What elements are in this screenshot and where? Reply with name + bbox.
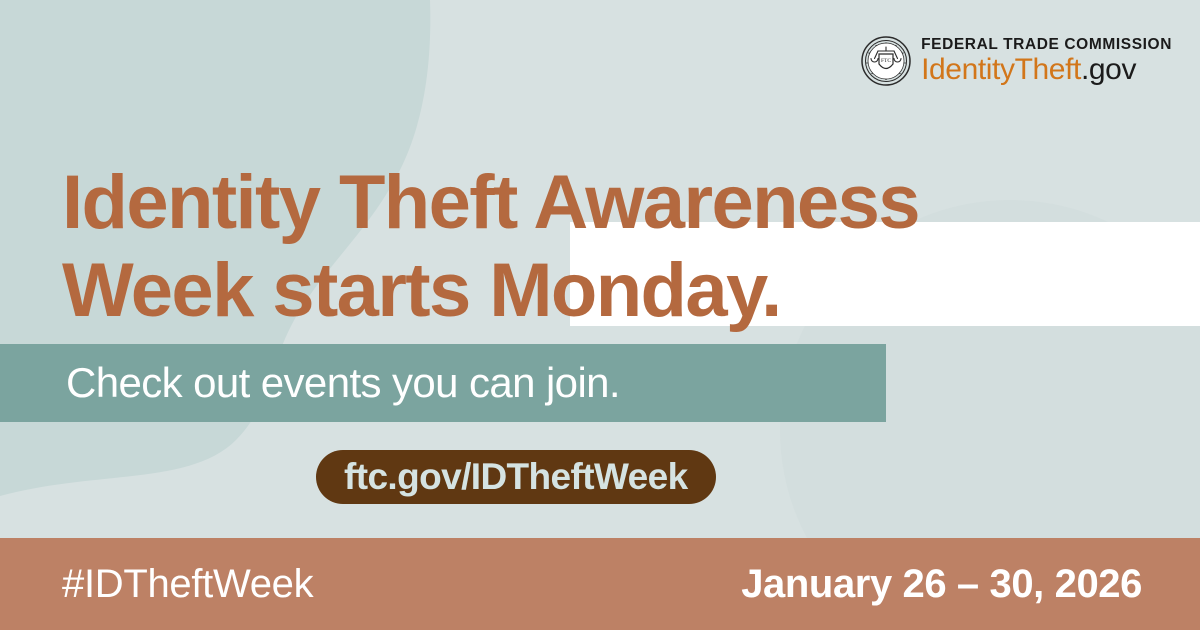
site-name-brand: IdentityTheft (921, 53, 1081, 86)
site-name: IdentityTheft.gov (921, 55, 1172, 85)
url-cta-pill[interactable]: ftc.gov/IDTheftWeek (316, 450, 716, 504)
headline-line-1: Identity Theft Awareness (62, 163, 1182, 244)
agency-name: FEDERAL TRADE COMMISSION (921, 37, 1172, 53)
identitytheft-gov-logo: FTC FEDERAL TRADE COMMISSION IdentityThe… (861, 36, 1172, 86)
event-dates: January 26 – 30, 2026 (741, 562, 1200, 607)
svg-text:FTC: FTC (881, 58, 891, 64)
site-name-tld: .gov (1081, 53, 1136, 86)
url-cta-label: ftc.gov/IDTheftWeek (344, 456, 688, 498)
subtitle-band: Check out events you can join. (0, 344, 886, 422)
headline-line-2-plain: Week starts (62, 248, 489, 333)
footer-band: #IDTheftWeek January 26 – 30, 2026 (0, 538, 1200, 630)
logo-text-block: FEDERAL TRADE COMMISSION IdentityTheft.g… (921, 37, 1172, 86)
identity-theft-awareness-week-banner: FTC FEDERAL TRADE COMMISSION IdentityThe… (0, 0, 1200, 630)
campaign-hashtag: #IDTheftWeek (0, 562, 313, 607)
headline-line-2: Week starts Monday. (62, 251, 1182, 332)
subtitle-text: Check out events you can join. (0, 359, 620, 407)
headline-line-2-highlight: Monday. (489, 248, 780, 333)
page-title: Identity Theft Awareness Week starts Mon… (62, 163, 1182, 332)
ftc-seal-icon: FTC (861, 36, 911, 86)
